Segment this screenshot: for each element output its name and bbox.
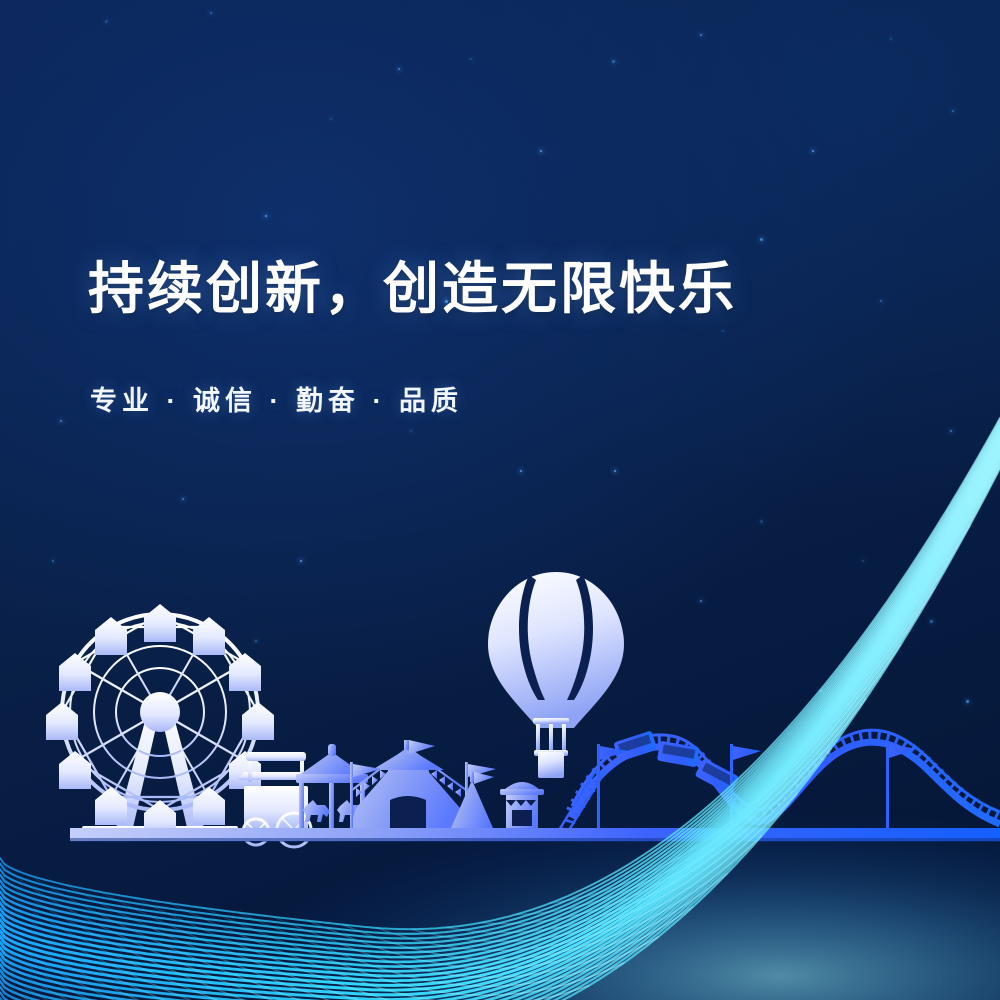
page-title: 持续创新，创造无限快乐 bbox=[88, 258, 737, 321]
poster-subtitle: 专业 · 诚信 · 勤奋 · 品质 bbox=[90, 379, 737, 418]
poster-copy: 持续创新，创造无限快乐 专业 · 诚信 · 勤奋 · 品质 bbox=[88, 258, 737, 418]
neon-mesh-wave bbox=[0, 0, 1000, 1000]
poster-canvas: 持续创新，创造无限快乐 专业 · 诚信 · 勤奋 · 品质 bbox=[0, 0, 1000, 1000]
